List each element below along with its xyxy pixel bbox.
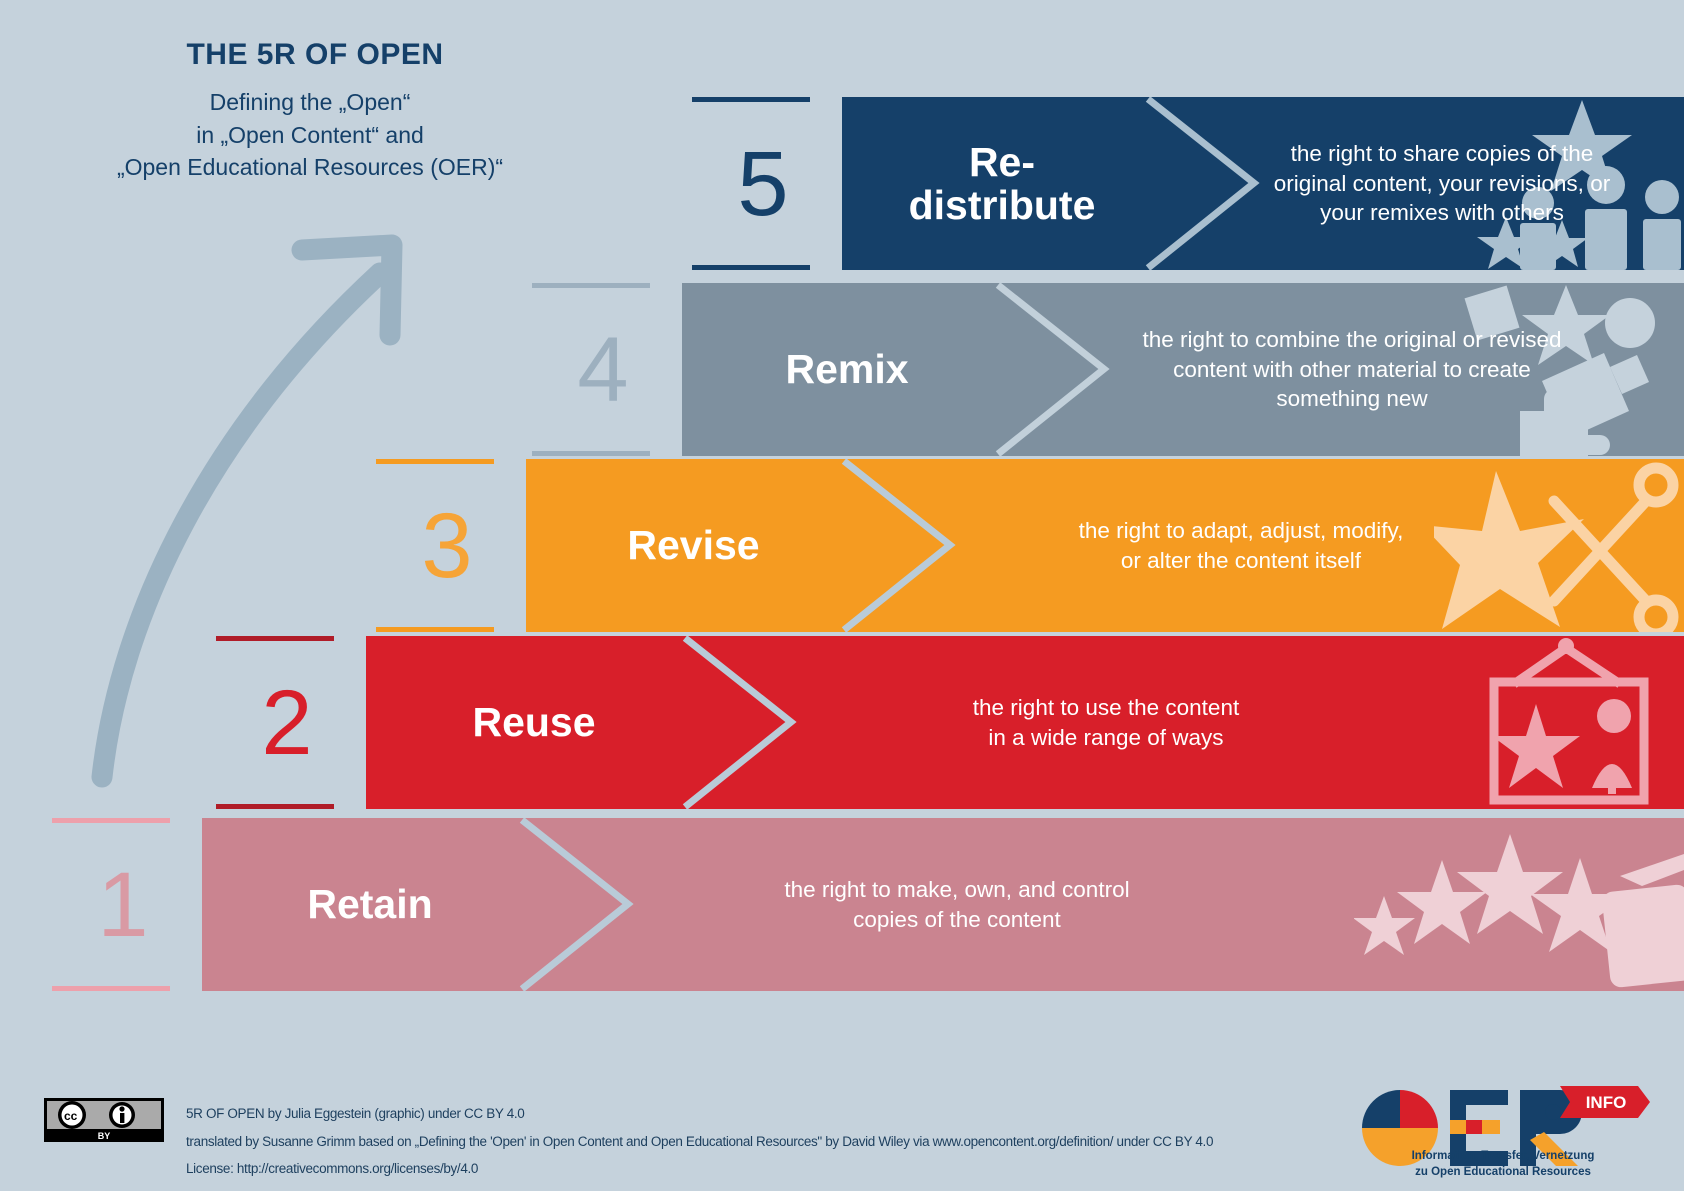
row-rule-top bbox=[52, 818, 170, 823]
subtitle-line-1: Defining the „Open“ bbox=[0, 86, 620, 119]
row-label-line-1: Retain bbox=[307, 883, 432, 925]
tagline-line-1: Information, Transfer, Vernetzung bbox=[1338, 1148, 1668, 1164]
row-label: Remix bbox=[682, 283, 1012, 456]
row-description: the right to make, own, and control copi… bbox=[632, 818, 1282, 991]
row-label-line-1: Revise bbox=[627, 524, 759, 566]
row-label: Re- distribute bbox=[842, 97, 1162, 270]
row-number: 5 bbox=[737, 138, 788, 230]
row-number: 1 bbox=[97, 859, 148, 951]
cc-by-license-badge[interactable]: cc BY bbox=[44, 1098, 164, 1142]
row-rule-top bbox=[532, 283, 650, 288]
row-desc-line-2: content with other material to create bbox=[1143, 355, 1562, 385]
row-desc-line-3: your remixes with others bbox=[1274, 198, 1610, 228]
logo-info-flag: INFO bbox=[1560, 1086, 1650, 1118]
row-description: the right to combine the original or rev… bbox=[1087, 283, 1617, 456]
row-desc-line-1: the right to use the content bbox=[973, 693, 1239, 723]
row-label-line-2: distribute bbox=[909, 184, 1096, 226]
folder-stars-icon bbox=[1354, 818, 1684, 991]
row-number-cell: 3 bbox=[368, 459, 526, 632]
row-bar: Re- distribute the right to share copies… bbox=[842, 97, 1684, 270]
tagline-line-2: zu Open Educational Resources bbox=[1338, 1164, 1668, 1180]
r-row-retain: 1 Retain bbox=[44, 818, 1684, 991]
r-row-remix: 4 Remix bbox=[524, 283, 1684, 456]
row-description: the right to share copies of the origina… bbox=[1242, 97, 1642, 270]
r-row-reuse: 2 Reuse bbox=[208, 636, 1684, 809]
row-rule-bottom bbox=[532, 451, 650, 456]
picture-frame-icon bbox=[1454, 636, 1684, 809]
row-label-line-1: Reuse bbox=[472, 701, 595, 743]
row-description: the right to adapt, adjust, modify, or a… bbox=[946, 459, 1536, 632]
infographic-poster: THE 5R OF OPEN Defining the „Open“ in „O… bbox=[0, 0, 1684, 1191]
r-row-redistribute: 5 Re- distribute bbox=[684, 97, 1684, 270]
row-label: Reuse bbox=[366, 636, 702, 809]
row-rule-bottom bbox=[692, 265, 810, 270]
row-number-cell: 2 bbox=[208, 636, 366, 809]
row-desc-line-2: copies of the content bbox=[784, 905, 1129, 935]
row-bar: Revise the right to adapt, adjust, modif… bbox=[526, 459, 1684, 632]
row-desc-line-3: something new bbox=[1143, 384, 1562, 414]
row-label-line-1: Re- bbox=[909, 141, 1096, 183]
footer-credits: 5R OF OPEN by Julia Eggestein (graphic) … bbox=[186, 1100, 1213, 1183]
row-rule-bottom bbox=[52, 986, 170, 991]
row-rule-top bbox=[216, 636, 334, 641]
row-desc-line-1: the right to adapt, adjust, modify, bbox=[1079, 516, 1404, 546]
credit-line-2: translated by Susanne Grimm based on „De… bbox=[186, 1128, 1213, 1156]
row-rule-bottom bbox=[376, 627, 494, 632]
row-rule-top bbox=[376, 459, 494, 464]
row-bar: Retain the right to make, own, and contr… bbox=[202, 818, 1684, 991]
row-number-cell: 5 bbox=[684, 97, 842, 270]
page-title: THE 5R OF OPEN bbox=[10, 38, 620, 72]
row-desc-line-1: the right to share copies of the bbox=[1274, 139, 1610, 169]
row-number-cell: 1 bbox=[44, 818, 202, 991]
row-desc-line-1: the right to make, own, and control bbox=[784, 875, 1129, 905]
subtitle: Defining the „Open“ in „Open Content“ an… bbox=[0, 86, 620, 184]
svg-text:cc: cc bbox=[64, 1109, 78, 1123]
row-desc-line-1: the right to combine the original or rev… bbox=[1143, 325, 1562, 355]
subtitle-line-2: in „Open Content“ and bbox=[0, 119, 620, 152]
row-number: 4 bbox=[577, 324, 628, 416]
row-label: Retain bbox=[202, 818, 538, 991]
row-number-cell: 4 bbox=[524, 283, 682, 456]
row-desc-line-2: in a wide range of ways bbox=[973, 723, 1239, 753]
credit-line-3: License: http://creativecommons.org/lice… bbox=[186, 1155, 1213, 1183]
row-number: 3 bbox=[421, 500, 472, 592]
logo-flag-text: INFO bbox=[1586, 1093, 1627, 1112]
subtitle-line-3: „Open Educational Resources (OER)“ bbox=[0, 151, 620, 184]
row-number: 2 bbox=[261, 677, 312, 769]
row-description: the right to use the content in a wide r… bbox=[796, 636, 1416, 809]
r-row-revise: 3 Revise bbox=[368, 459, 1684, 632]
row-bar: Remix the right to combine the original … bbox=[682, 283, 1684, 456]
cc-badge-label: BY bbox=[98, 1131, 111, 1141]
row-desc-line-2: original content, your revisions, or bbox=[1274, 169, 1610, 199]
oer-logo-tagline: Information, Transfer, Vernetzung zu Ope… bbox=[1338, 1148, 1668, 1181]
row-desc-line-2: or alter the content itself bbox=[1079, 546, 1404, 576]
row-label-line-1: Remix bbox=[785, 348, 908, 390]
row-bar: Reuse the right to use the content in a … bbox=[366, 636, 1684, 809]
row-label: Revise bbox=[526, 459, 861, 632]
header-block: THE 5R OF OPEN Defining the „Open“ in „O… bbox=[0, 38, 620, 184]
row-rule-top bbox=[692, 97, 810, 102]
row-rule-bottom bbox=[216, 804, 334, 809]
credit-line-1: 5R OF OPEN by Julia Eggestein (graphic) … bbox=[186, 1100, 1213, 1128]
